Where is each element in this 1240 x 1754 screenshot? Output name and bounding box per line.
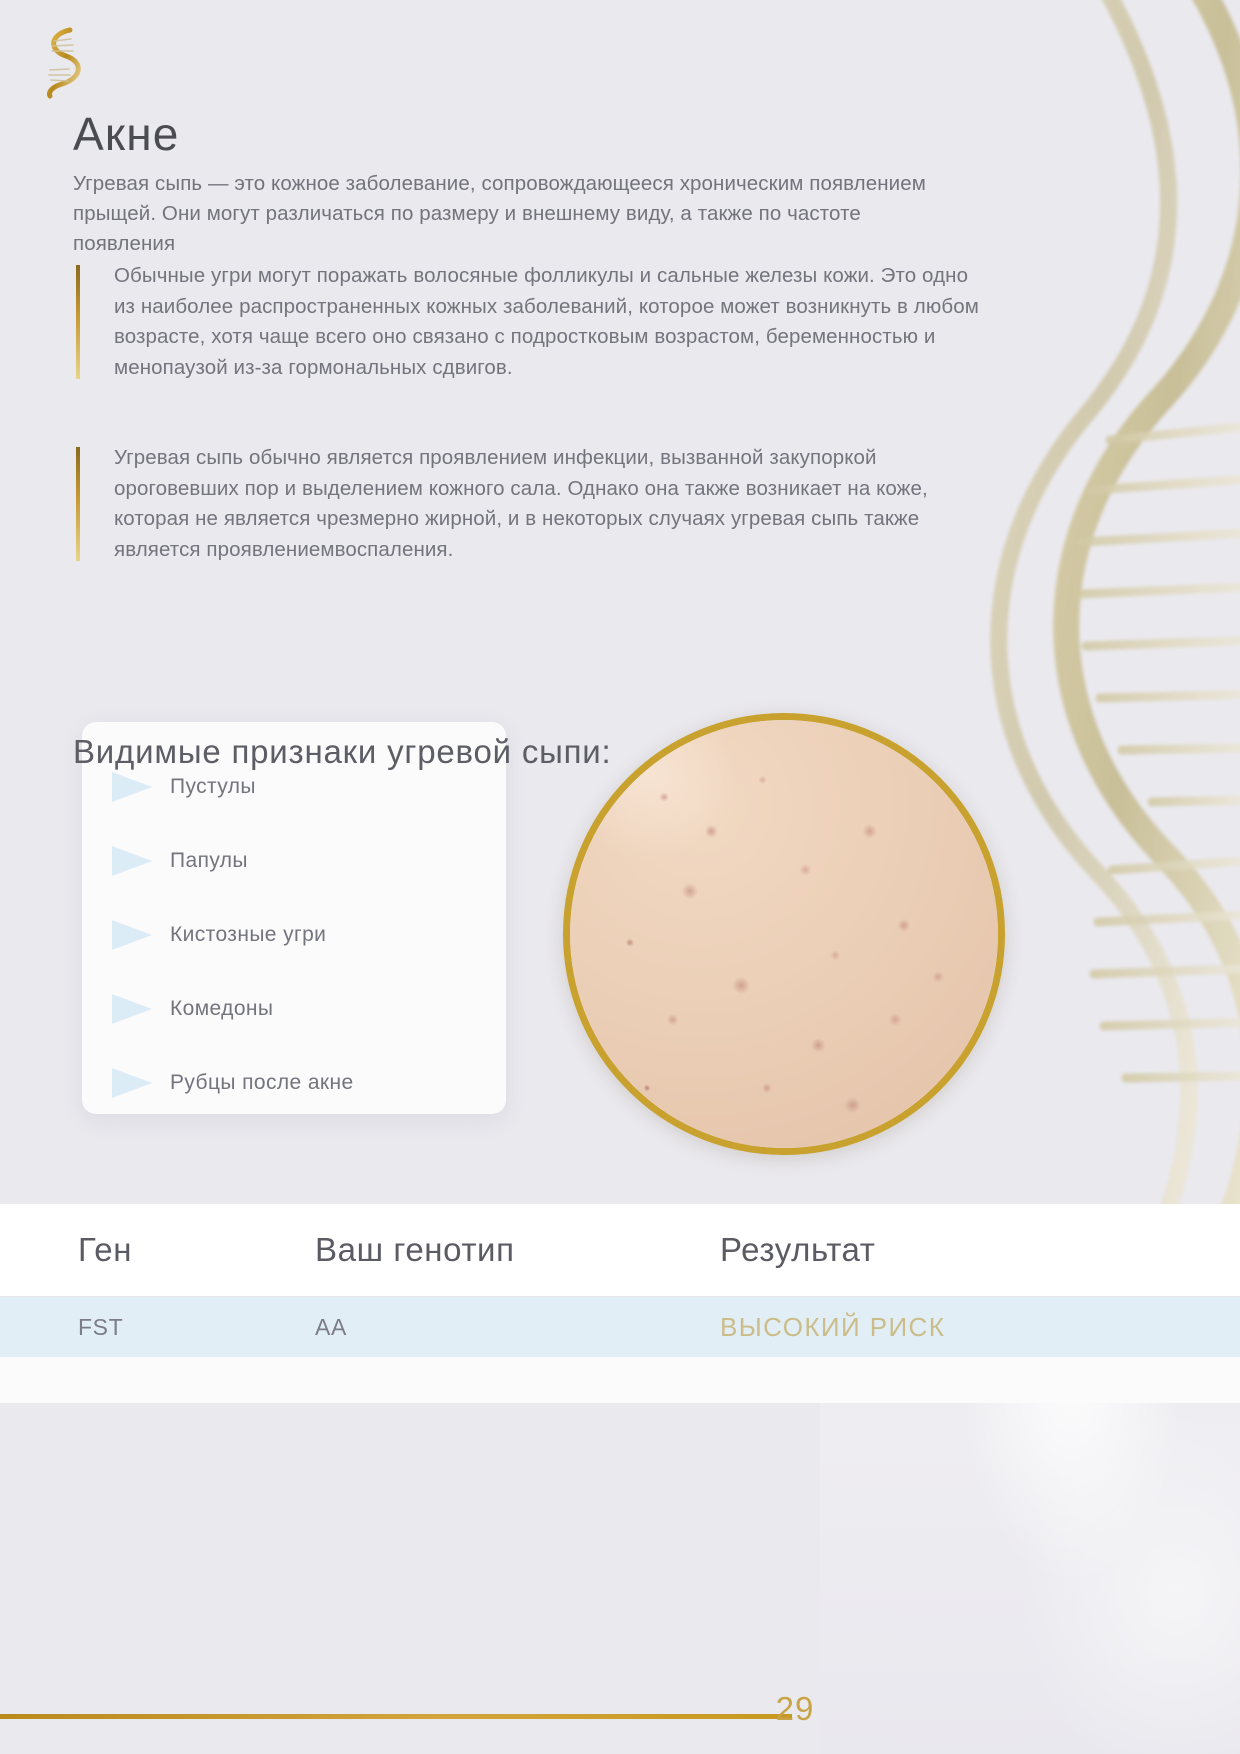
- quote-block-2: Угревая сыпь обычно является проявлением…: [76, 443, 994, 565]
- dna-helix-logo-icon: [40, 24, 86, 100]
- list-item-label: Комедоны: [170, 997, 273, 1021]
- report-page: Акне Угревая сыпь — это кожное заболеван…: [0, 0, 1240, 1754]
- play-triangle-icon: [110, 1066, 154, 1100]
- list-item-label: Папулы: [170, 849, 248, 873]
- column-header-result: Результат: [720, 1231, 1240, 1269]
- list-item: Кистозные угри: [82, 898, 506, 972]
- status-badge: ВЫСОКИЙ РИСК: [720, 1312, 1240, 1343]
- visible-signs-list: Пустулы Папулы Кистозные угри Комедоны Р: [82, 722, 506, 1114]
- play-triangle-icon: [110, 992, 154, 1026]
- quote-block-1: Обычные угри могут поражать волосяные фо…: [76, 261, 994, 383]
- list-item-label: Рубцы после акне: [170, 1071, 354, 1095]
- play-triangle-icon: [110, 844, 154, 878]
- list-item: Комедоны: [82, 972, 506, 1046]
- footer-divider: [0, 1714, 792, 1719]
- play-triangle-icon: [110, 770, 154, 804]
- table-footer-strip: [0, 1357, 1240, 1403]
- list-item: Папулы: [82, 824, 506, 898]
- table-row: FST AA ВЫСОКИЙ РИСК: [0, 1297, 1240, 1357]
- cell-gene: FST: [0, 1314, 315, 1341]
- page-title: Акне: [73, 107, 180, 161]
- intro-paragraph: Угревая сыпь — это кожное заболевание, с…: [73, 169, 958, 259]
- list-item-label: Кистозные угри: [170, 923, 326, 947]
- column-header-genotype: Ваш генотип: [315, 1231, 720, 1269]
- list-item-label: Пустулы: [170, 775, 256, 799]
- play-triangle-icon: [110, 918, 154, 952]
- results-table: Ген Ваш генотип Результат FST AA ВЫСОКИЙ…: [0, 1204, 1240, 1403]
- column-header-gene: Ген: [0, 1231, 315, 1269]
- list-item: Пустулы: [82, 750, 506, 824]
- table-header-row: Ген Ваш генотип Результат: [0, 1204, 1240, 1297]
- acne-skin-photo: [563, 713, 1005, 1155]
- cell-genotype: AA: [315, 1314, 720, 1341]
- skin-texture: [570, 720, 998, 1148]
- list-item: Рубцы после акне: [82, 1046, 506, 1120]
- page-number: 29: [735, 1690, 855, 1728]
